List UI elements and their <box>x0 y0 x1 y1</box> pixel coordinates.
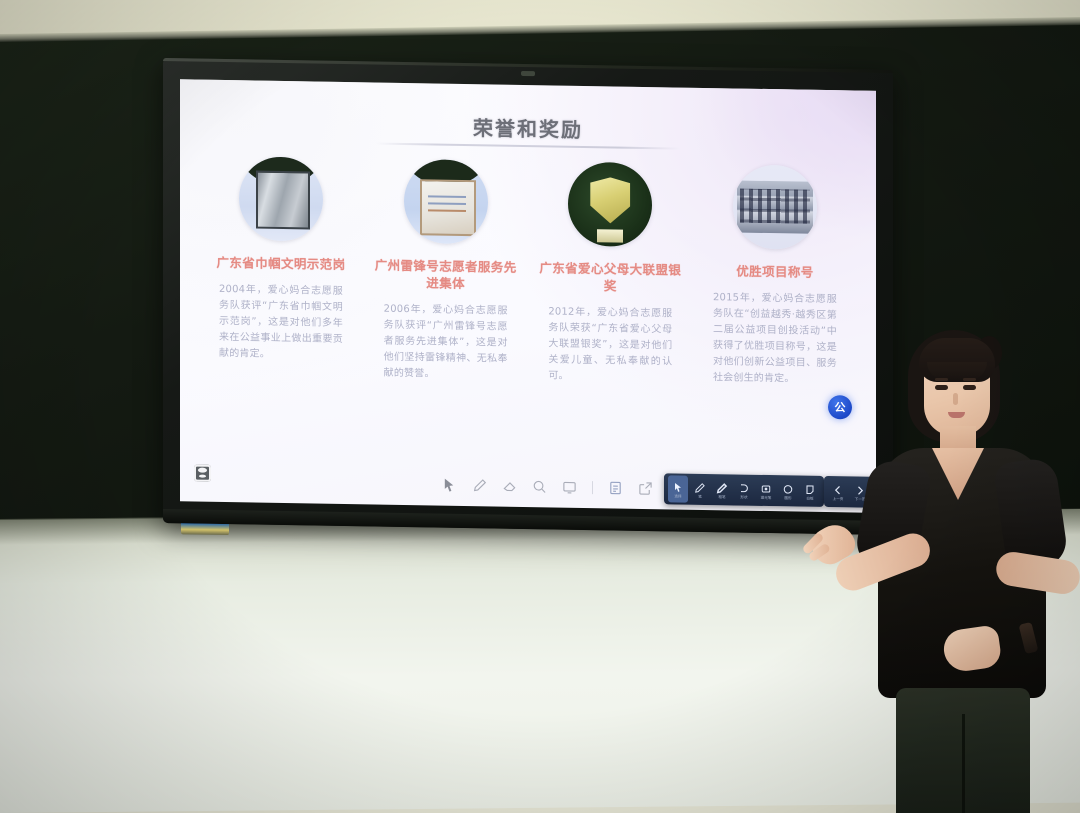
laser-icon <box>760 481 772 493</box>
magnifier-icon[interactable] <box>532 479 547 494</box>
slide-screen[interactable]: 荣誉和奖励 广东省巾帼文明示范岗 2004年，爱心妈合志愿服务队获评“广东省巾帼… <box>180 79 876 513</box>
note-icon[interactable] <box>608 480 623 495</box>
panel-label-sticker <box>181 523 229 535</box>
toolbar-item-label: 粗笔 <box>718 494 725 499</box>
presentation-mode-icon[interactable] <box>194 465 211 482</box>
pointer-icon <box>672 480 684 492</box>
camera-sensor-icon <box>521 71 535 76</box>
award-heading: 优胜项目称号 <box>699 262 851 282</box>
toolbar-item-label: 激光笔 <box>761 495 772 500</box>
pen-thick-icon <box>716 481 728 493</box>
award-column: 广东省爱心父母大联盟银奖 2012年，爱心妈合志愿服务队荣获“广东省爱心父母大联… <box>535 161 685 483</box>
presenter-eyebrow <box>935 378 948 381</box>
pen-icon[interactable] <box>472 478 487 493</box>
award-group-banner-photo <box>733 164 817 249</box>
award-column: 广州雷锋号志愿者服务先进集体 2006年，爱心妈合志愿服务队获评“广州雷锋号志愿… <box>371 158 521 480</box>
toolbar-item-pen-thin[interactable]: 笔 <box>690 476 710 503</box>
presenter <box>800 330 1080 813</box>
award-plaque-photo <box>239 156 323 241</box>
classroom-scene: 荣誉和奖励 广东省巾帼文明示范岗 2004年，爱心妈合志愿服务队获评“广东省巾帼… <box>0 0 1080 813</box>
award-heading: 广东省爱心父母大联盟银奖 <box>534 259 686 296</box>
pen-thin-icon <box>694 480 706 492</box>
toolbar-item-shape[interactable]: 形状 <box>734 476 754 503</box>
toolbar-item-label: 圆形 <box>784 495 791 500</box>
toolbar-divider <box>592 481 593 494</box>
share-icon[interactable] <box>638 480 653 495</box>
toolbar-item-label: 形状 <box>740 494 747 499</box>
presenter-eyebrow <box>963 378 976 381</box>
presenter-fringe <box>919 338 995 382</box>
toolbar-item-laser[interactable]: 激光笔 <box>756 477 776 504</box>
award-body: 2012年，爱心妈合志愿服务队荣获“广东省爱心父母大联盟银奖”，这是对他们关爱儿… <box>548 304 672 386</box>
award-column: 广东省巾帼文明示范岗 2004年，爱心妈合志愿服务队获评“广东省巾帼文明示范岗”… <box>206 156 356 478</box>
eraser-icon[interactable] <box>502 478 517 493</box>
toolbar-item-circle[interactable]: 圆形 <box>778 477 798 504</box>
presenter-eye <box>963 385 976 390</box>
award-shield-trophy-photo <box>568 162 652 247</box>
award-certificate-photo <box>404 159 488 244</box>
toolbar-item-pen-thick[interactable]: 粗笔 <box>712 476 732 503</box>
awards-columns: 广东省巾帼文明示范岗 2004年，爱心妈合志愿服务队获评“广东省巾帼文明示范岗”… <box>206 156 850 487</box>
interactive-flat-panel[interactable]: 荣誉和奖励 广东省巾帼文明示范岗 2004年，爱心妈合志愿服务队获评“广东省巾帼… <box>163 58 893 535</box>
award-body: 2006年，爱心妈合志愿服务队获评“广州雷锋号志愿者服务先进集体”，这是对他们坚… <box>384 302 508 384</box>
screen-icon[interactable] <box>562 479 577 494</box>
award-heading: 广东省巾帼文明示范岗 <box>205 254 357 274</box>
presenter-nose <box>953 393 958 405</box>
presenter-eye <box>935 385 948 390</box>
award-heading: 广州雷锋号志愿者服务先进集体 <box>370 256 522 293</box>
page-title: 荣誉和奖励 <box>180 107 876 148</box>
shape-icon <box>738 481 750 493</box>
annotation-toolbar[interactable] <box>442 472 683 502</box>
presenter-trousers <box>896 688 1030 813</box>
toolbar-item-label: 选择 <box>674 493 681 498</box>
circle-icon <box>782 482 794 494</box>
toolbar-item-label: 笔 <box>698 494 702 499</box>
award-body: 2004年，爱心妈合志愿服务队获评“广东省巾帼文明示范岗”，这是对他们多年来在公… <box>219 282 343 364</box>
toolbar-item-pointer[interactable]: 选择 <box>668 475 688 502</box>
cursor-icon[interactable] <box>442 477 457 492</box>
